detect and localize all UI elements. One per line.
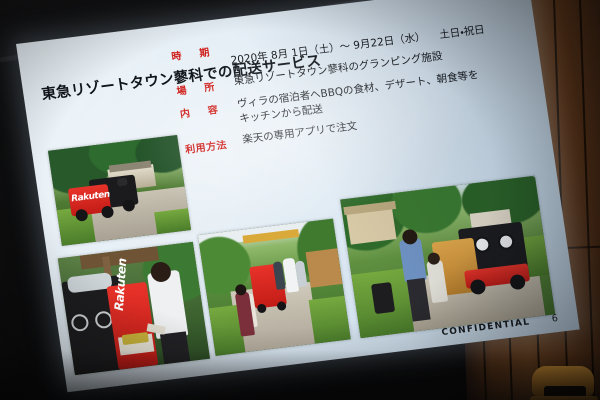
screenshot-root: 東急リゾートタウン蓼科での配送サービス 時 期 2020年 8月 1日（土）～ … — [0, 0, 600, 400]
slide-content: 東急リゾートタウン蓼科での配送サービス 時 期 2020年 8月 1日（土）～ … — [16, 0, 580, 392]
info-table: 時 期 2020年 8月 1日（土）～ 9月22日（水）土日・祝日 場 所 東急… — [170, 5, 535, 163]
row-label-period: 時 期 — [170, 40, 230, 63]
photo-family-receiving — [340, 176, 555, 338]
photo-robot-on-path: Rakuten — [48, 135, 191, 246]
row-label-place: 場 所 — [175, 75, 235, 98]
page-number: 6 — [551, 313, 559, 325]
floor-shadow — [0, 350, 600, 400]
projection-screen: 東急リゾートタウン蓼科での配送サービス 時 期 2020年 8月 1日（土）～ … — [16, 0, 580, 392]
row-label-content: 内 容 — [179, 98, 239, 121]
photo-walkway-guests — [198, 219, 351, 356]
period-note: 土日・祝日 — [438, 23, 485, 43]
row-label-usage: 利用方法 — [184, 133, 244, 156]
